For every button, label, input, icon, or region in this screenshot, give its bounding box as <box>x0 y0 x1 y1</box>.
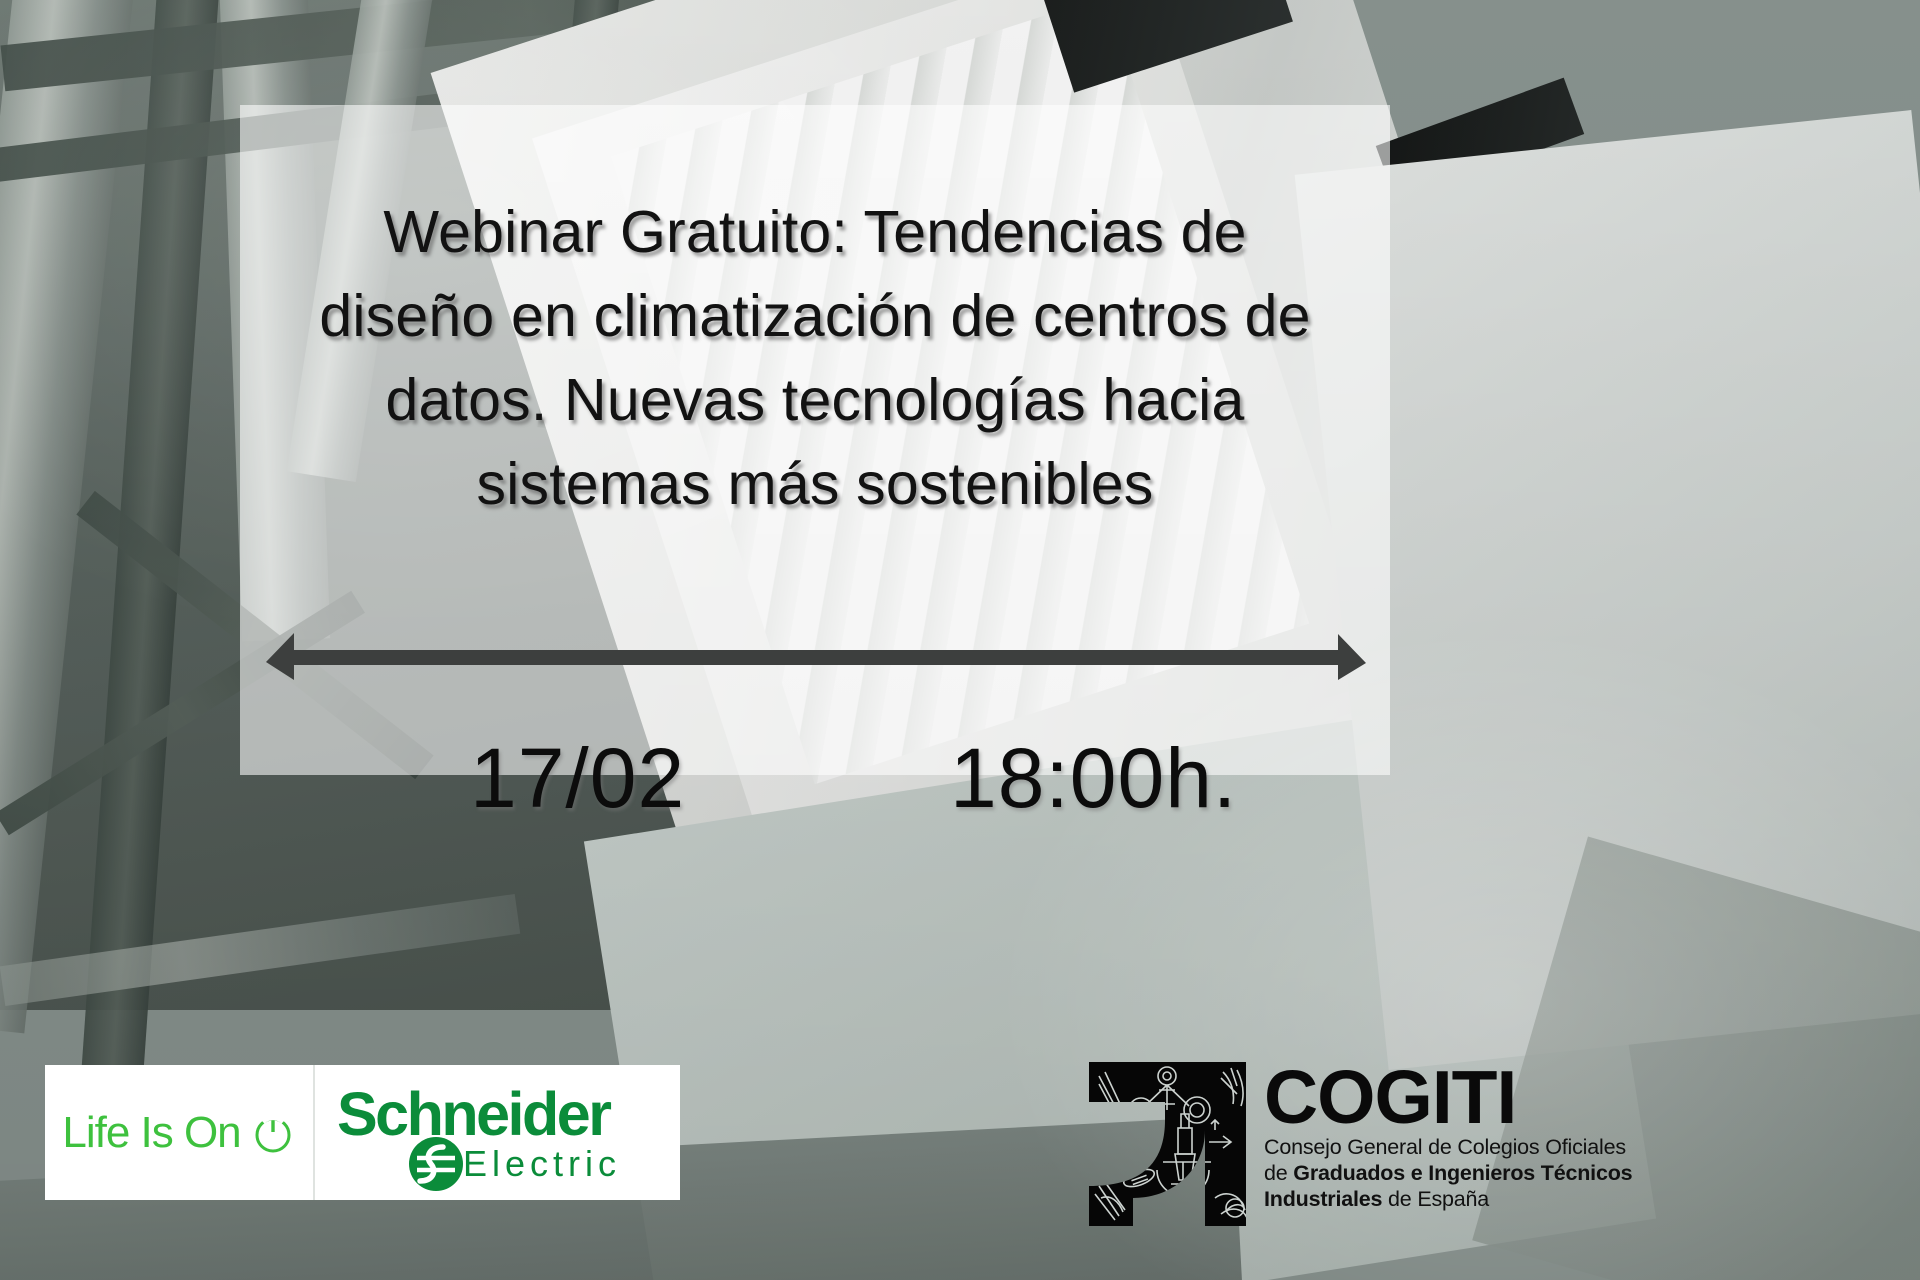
cogiti-subtitle-line-1: Consejo General de Colegios Oficiales <box>1264 1134 1632 1160</box>
cogiti-subtitle-line-2: de Graduados e Ingenieros Técnicos <box>1264 1160 1632 1186</box>
schneider-s-hook-icon <box>407 1135 465 1193</box>
life-is-on-text: Life Is On <box>62 1108 240 1158</box>
subtitle-bold: Industriales <box>1264 1187 1382 1211</box>
webinar-title: Webinar Gratuito: Tendencias de diseño e… <box>270 190 1360 526</box>
cogiti-subtitle-line-3: Industriales de España <box>1264 1186 1632 1212</box>
subtitle-text: de <box>1264 1161 1293 1185</box>
title-line-1: Webinar Gratuito: Tendencias de <box>270 190 1360 274</box>
title-line-2: diseño en climatización de centros de <box>270 274 1360 358</box>
cogiti-text-block: COGITI Consejo General de Colegios Ofici… <box>1264 1058 1632 1212</box>
power-symbol-icon <box>250 1110 296 1156</box>
schneider-wordmark: Schneider <box>337 1079 609 1149</box>
electric-wordmark: Electric <box>463 1143 621 1185</box>
cogiti-engineering-emblem-icon <box>1085 1058 1250 1230</box>
schneider-wordmark-block: Schneider Electric <box>315 1065 680 1200</box>
cogiti-logo: COGITI Consejo General de Colegios Ofici… <box>1085 1058 1505 1233</box>
schneider-electric-logo: Life Is On Schneider Electric <box>45 1065 680 1200</box>
event-time: 18:00h. <box>950 730 1237 827</box>
double-headed-arrow-icon <box>266 618 1366 690</box>
subtitle-text: Consejo General de Colegios Oficiales <box>1264 1135 1626 1159</box>
poster-canvas: Webinar Gratuito: Tendencias de diseño e… <box>0 0 1920 1280</box>
title-line-4: sistemas más sostenibles <box>270 442 1360 526</box>
life-is-on-lockup: Life Is On <box>62 1108 295 1158</box>
subtitle-text: de España <box>1382 1187 1489 1211</box>
subtitle-bold: Graduados e Ingenieros Técnicos <box>1293 1161 1632 1185</box>
life-is-on-block: Life Is On <box>45 1065 315 1200</box>
double-headed-arrow <box>266 618 1366 690</box>
date-time-row: 17/02 18:00h. <box>270 730 1360 840</box>
event-date: 17/02 <box>470 730 685 827</box>
title-line-3: datos. Nuevas tecnologías hacia <box>270 358 1360 442</box>
cogiti-wordmark: COGITI <box>1264 1060 1632 1134</box>
